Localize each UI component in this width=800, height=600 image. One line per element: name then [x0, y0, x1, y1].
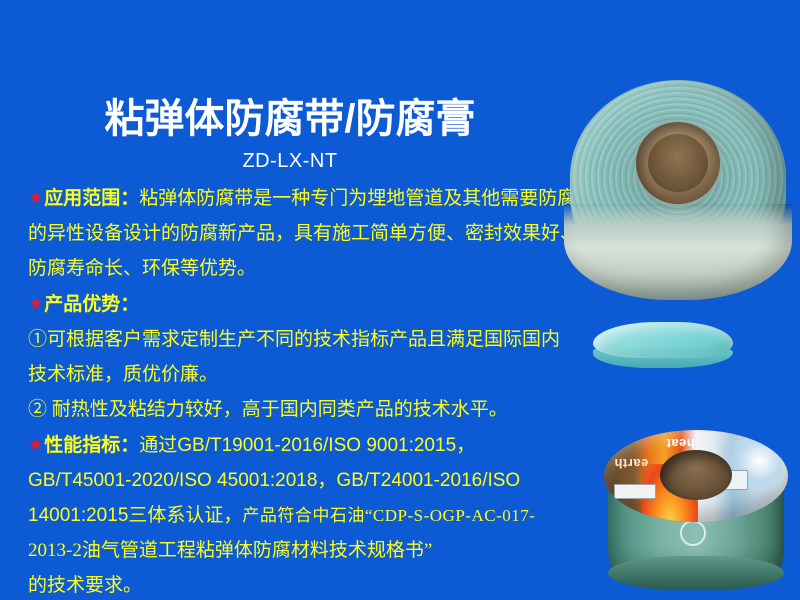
packaged-roll-core — [660, 450, 732, 500]
performance-line-5: 的技术要求。 — [28, 568, 588, 600]
petrochina-spec-code: 产品符合中石油“CDP-S-OGP-AC-017- — [242, 506, 535, 525]
tape-roll-rim — [564, 204, 792, 300]
star-icon: ★ — [28, 180, 43, 215]
tape-roll-core — [636, 122, 720, 204]
label-word-heat: heat — [666, 436, 695, 451]
packaged-roll-drum-bottom — [608, 556, 784, 590]
performance-heading: 性能指标： — [44, 435, 139, 456]
application-line-2: 的异性设备设计的防腐新产品，具有施工简单方便、密封效果好、 — [28, 216, 588, 251]
performance-standards-1: 通过GB/T19001-2016/ISO 9001:2015， — [139, 435, 475, 456]
performance-line-4: 2013-2油气管道工程粘弹体防腐材料技术规格书” — [28, 533, 588, 568]
performance-standards-3: 14001:2015三体系认证， — [28, 505, 242, 526]
product-model: ZD-LX-NT — [0, 148, 580, 174]
advantages-heading-line: ★产品优势： — [28, 286, 588, 322]
star-icon: ★ — [28, 286, 43, 321]
tape-roll-core-hole — [648, 134, 708, 192]
label-tag-left — [614, 484, 656, 499]
application-text-1: 粘弹体防腐带是一种专门为埋地管道及其他需要防腐 — [139, 188, 576, 209]
product-poster: 粘弹体防腐带/防腐膏 ZD-LX-NT ★应用范围：粘弹体防腐带是一种专门为埋地… — [0, 0, 800, 600]
product-image-paste-block — [587, 322, 739, 378]
product-image-packaged-roll: heat earth — [598, 428, 798, 600]
paste-block-top — [593, 322, 733, 358]
application-line-3: 防腐寿命长、环保等优势。 — [28, 251, 588, 286]
star-icon: ★ — [28, 427, 43, 462]
advantages-line-1: ①可根据客户需求定制生产不同的技术指标产品且满足国际国内 — [28, 322, 588, 357]
performance-line-3: 14001:2015三体系认证，产品符合中石油“CDP-S-OGP-AC-017… — [28, 498, 588, 533]
brand-logo-icon — [680, 520, 706, 546]
advantages-line-2: 技术标准，质优价廉。 — [28, 357, 588, 392]
performance-line-2: GB/T45001-2020/ISO 45001:2018，GB/T24001-… — [28, 463, 588, 498]
performance-line-1: ★性能指标：通过GB/T19001-2016/ISO 9001:2015， — [28, 427, 588, 463]
advantages-line-3: ② 耐热性及粘结力较好，高于国内同类产品的技术水平。 — [28, 392, 588, 427]
label-word-earth: earth — [614, 456, 648, 471]
advantages-heading: 产品优势： — [44, 294, 139, 315]
page-title: 粘弹体防腐带/防腐膏 — [0, 96, 580, 142]
body-text-block: ★应用范围：粘弹体防腐带是一种专门为埋地管道及其他需要防腐 的异性设备设计的防腐… — [28, 180, 588, 600]
application-line-1: ★应用范围：粘弹体防腐带是一种专门为埋地管道及其他需要防腐 — [28, 180, 588, 216]
application-heading: 应用范围： — [44, 188, 139, 209]
product-image-tape-roll — [548, 72, 800, 304]
